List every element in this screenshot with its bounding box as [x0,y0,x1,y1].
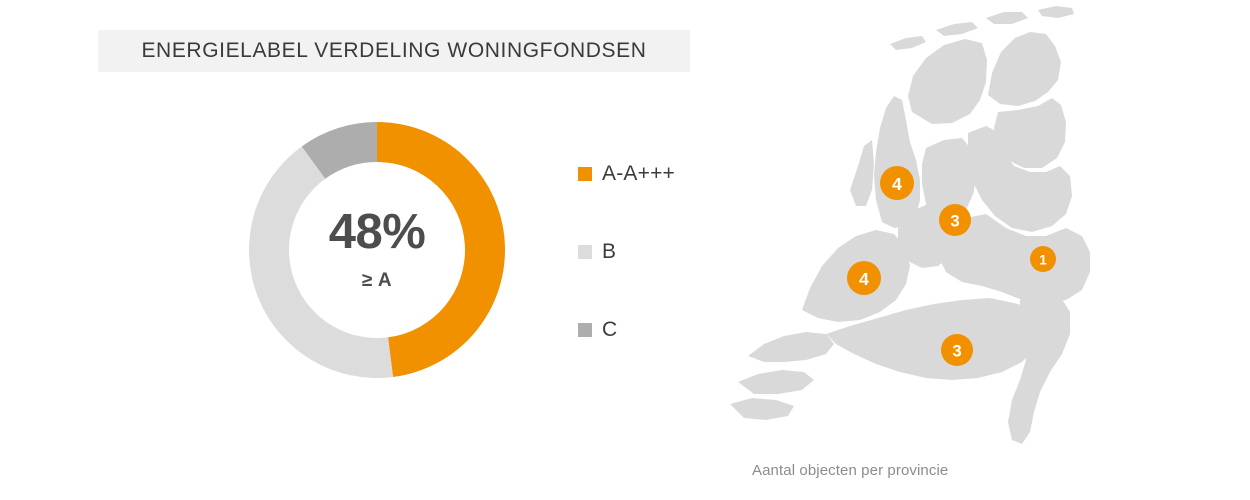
province-noord-holland[interactable] [850,96,920,228]
marker-label: 4 [859,269,869,289]
donut-segment-B[interactable] [249,146,393,378]
energy-label-chart-panel: ENERGIELABEL VERDELING WONINGFONDSEN 48%… [0,0,730,500]
legend-label-a: A-A+++ [602,162,675,186]
chart-legend: A-A+++ B C [578,163,728,341]
marker-label: 3 [950,212,959,231]
marker-gelderland[interactable]: 1 [1030,246,1056,272]
marker-zuid-holland[interactable]: 4 [847,261,881,295]
legend-label-b: B [602,240,616,264]
page-title: ENERGIELABEL VERDELING WONINGFONDSEN [141,39,646,63]
netherlands-map: 43143 [730,0,1250,470]
infographic-page: ENERGIELABEL VERDELING WONINGFONDSEN 48%… [0,0,1250,500]
donut-segment-A-A+++[interactable] [377,122,505,377]
legend-item-b[interactable]: B [578,241,728,263]
legend-swatch-c [578,323,592,337]
legend-label-c: C [602,318,617,342]
marker-label: 4 [892,174,902,194]
netherlands-map-panel: 43143 Aantal objecten per provincie [730,0,1250,500]
donut-chart [249,122,505,378]
legend-item-a[interactable]: A-A+++ [578,163,728,185]
map-caption: Aantal objecten per provincie [752,462,948,479]
legend-item-c[interactable]: C [578,319,728,341]
marker-noord-brabant[interactable]: 3 [941,334,973,366]
legend-swatch-b [578,245,592,259]
marker-noord-holland[interactable]: 4 [880,166,914,200]
province-groningen[interactable] [988,32,1061,106]
marker-label: 3 [952,342,961,361]
marker-label: 1 [1039,253,1047,268]
province-zeeland[interactable] [730,332,834,420]
marker-utrecht[interactable]: 3 [939,204,971,236]
map-provinces [730,6,1090,444]
legend-swatch-a [578,167,592,181]
chart-title-band: ENERGIELABEL VERDELING WONINGFONDSEN [98,30,690,72]
province-friesland[interactable] [908,39,987,124]
